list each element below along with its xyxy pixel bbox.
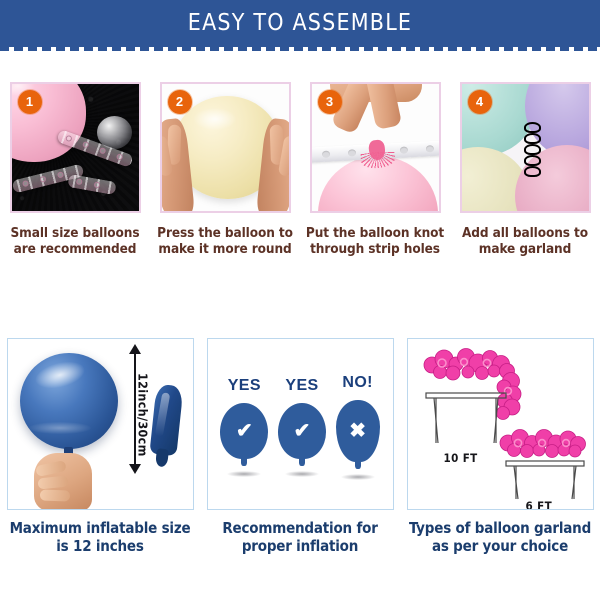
panel-garland-types: 10 FT 6 FT Types of balloon garland as p… bbox=[400, 338, 600, 588]
hand-holding-balloon bbox=[34, 453, 92, 510]
step-1-caption: Small size balloons are recommended bbox=[1, 225, 149, 257]
deflated-balloon bbox=[149, 384, 183, 456]
balloon-check-icon: ✔ bbox=[220, 403, 268, 459]
inflation-label-yes: YES bbox=[285, 377, 318, 395]
step-1-image: 1 bbox=[10, 82, 141, 213]
panel-1-image: 12inch/30cm bbox=[7, 338, 194, 510]
panel-inflation: YES ✔ YES ✔ NO! bbox=[200, 338, 400, 588]
panel-3-caption: Types of balloon garland as per your cho… bbox=[402, 519, 598, 555]
garland-6ft bbox=[500, 430, 586, 458]
panel-max-size: 12inch/30cm Maximum inflatable size is 1… bbox=[0, 338, 200, 588]
garland-10ft bbox=[424, 349, 521, 420]
balloon-knot bbox=[367, 139, 385, 161]
step-card-3: 3 Put the balloon knot through strip hol… bbox=[300, 82, 450, 282]
check-icon: ✔ bbox=[236, 421, 253, 441]
drop-shadow bbox=[227, 471, 261, 477]
inflation-label-yes: YES bbox=[228, 377, 261, 395]
inflation-option-2: YES ✔ bbox=[278, 377, 326, 477]
step-4-caption: Add all balloons to make garland bbox=[451, 225, 599, 257]
garland-label-6ft: 6 FT bbox=[526, 499, 553, 510]
step-card-2: 2 Press the balloon to make it more roun… bbox=[150, 82, 300, 282]
garland-svg bbox=[408, 339, 594, 510]
step-badge-2: 2 bbox=[168, 90, 192, 114]
balloon-tail bbox=[355, 461, 361, 469]
page-header: Easy To Assemble bbox=[0, 0, 600, 48]
step-2-image: 2 bbox=[160, 82, 291, 213]
table-10ft bbox=[426, 393, 506, 443]
info-panels-row: 12inch/30cm Maximum inflatable size is 1… bbox=[0, 338, 600, 588]
size-label: 12inch/30cm bbox=[136, 373, 151, 457]
dashed-divider bbox=[0, 47, 600, 51]
inflation-option-1: YES ✔ bbox=[220, 377, 268, 477]
balloon-tail bbox=[241, 458, 247, 466]
step-3-caption: Put the balloon knot through strip holes bbox=[301, 225, 449, 257]
check-icon: ✔ bbox=[294, 421, 311, 441]
close-icon: ✖ bbox=[349, 421, 366, 441]
blue-balloon bbox=[20, 353, 118, 449]
table-6ft bbox=[506, 461, 584, 499]
panel-2-image: YES ✔ YES ✔ NO! bbox=[207, 338, 394, 510]
step-card-1: 1 Small size balloons are recommended bbox=[0, 82, 150, 282]
step-badge-4: 4 bbox=[468, 90, 492, 114]
inflation-icons-row: YES ✔ YES ✔ NO! bbox=[208, 339, 393, 509]
step-card-4: 4 Add all balloons to make garland bbox=[450, 82, 600, 282]
balloon-cross-icon: ✖ bbox=[336, 400, 380, 462]
drop-shadow bbox=[341, 474, 375, 480]
assembly-steps-row: 1 Small size balloons are recommended 2 … bbox=[0, 82, 600, 282]
inflation-label-no: NO! bbox=[342, 374, 373, 392]
inflation-option-3: NO! ✖ bbox=[336, 374, 380, 480]
balloon-check-icon: ✔ bbox=[278, 403, 326, 459]
balloon-knots-group bbox=[524, 122, 546, 180]
step-3-image: 3 bbox=[310, 82, 441, 213]
page-title: Easy To Assemble bbox=[0, 0, 600, 44]
garland-label-10ft: 10 FT bbox=[444, 451, 478, 465]
step-2-caption: Press the balloon to make it more round bbox=[151, 225, 299, 257]
garland-diagram: 10 FT 6 FT bbox=[408, 339, 593, 509]
panel-1-caption: Maximum inflatable size is 12 inches bbox=[2, 519, 198, 555]
step-badge-1: 1 bbox=[18, 90, 42, 114]
drop-shadow bbox=[285, 471, 319, 477]
panel-3-image: 10 FT 6 FT bbox=[407, 338, 594, 510]
step-badge-3: 3 bbox=[318, 90, 342, 114]
panel-2-caption: Recommendation for proper inflation bbox=[202, 519, 398, 555]
balloon-tail bbox=[299, 458, 305, 466]
step-4-image: 4 bbox=[460, 82, 591, 213]
